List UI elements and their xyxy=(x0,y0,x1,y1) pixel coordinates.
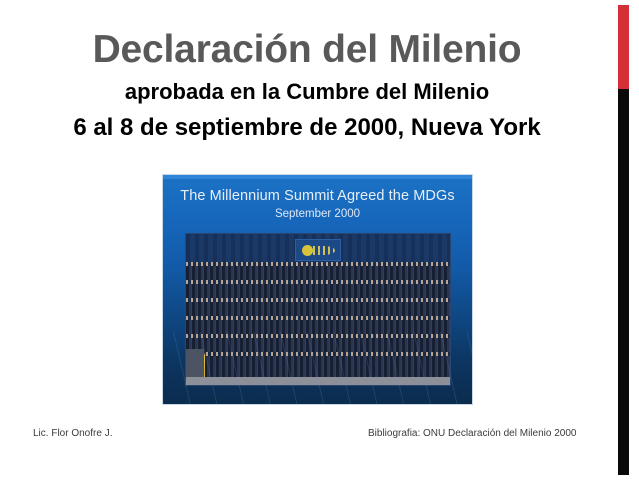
crowd-row xyxy=(186,316,450,334)
title-block: Declaración del Milenio aprobada en la C… xyxy=(0,30,614,142)
crowd-bodies xyxy=(186,284,450,298)
edge-accent-bar-red xyxy=(618,5,629,89)
page-title: Declaración del Milenio xyxy=(0,30,614,71)
crowd-bodies xyxy=(186,302,450,316)
un-emblem-icon xyxy=(295,239,341,261)
crowd-row xyxy=(186,352,450,378)
crowd-bodies xyxy=(186,338,450,352)
crowd-bodies xyxy=(186,320,450,334)
slide-subtitle-primary: aprobada en la Cumbre del Milenio xyxy=(0,80,614,104)
footer-author: Lic. Flor Onofre J. xyxy=(33,428,112,439)
slide-canvas: Declaración del Milenio aprobada en la C… xyxy=(0,0,639,480)
summit-group-photo xyxy=(185,233,451,386)
summit-image-top-band xyxy=(163,175,472,179)
summit-slide-image: The Millennium Summit Agreed the MDGs Se… xyxy=(163,175,472,404)
summit-image-subhead: September 2000 xyxy=(163,208,472,220)
crowd-row xyxy=(186,334,450,352)
crowd-row xyxy=(186,298,450,316)
edge-accent-bar-black xyxy=(618,89,629,475)
photo-stage-riser xyxy=(186,349,204,377)
crowd-row xyxy=(186,280,450,298)
footer-bibliography: Bibliografia: ONU Declaración del Mileni… xyxy=(368,428,576,439)
crowd-bodies xyxy=(186,356,450,378)
summit-image-headline: The Millennium Summit Agreed the MDGs xyxy=(163,188,472,204)
crowd-bodies xyxy=(186,266,450,280)
crowd-row xyxy=(186,262,450,280)
slide-subtitle-secondary: 6 al 8 de septiembre de 2000, Nueva York xyxy=(0,115,614,141)
photo-stage-floor xyxy=(186,377,450,385)
